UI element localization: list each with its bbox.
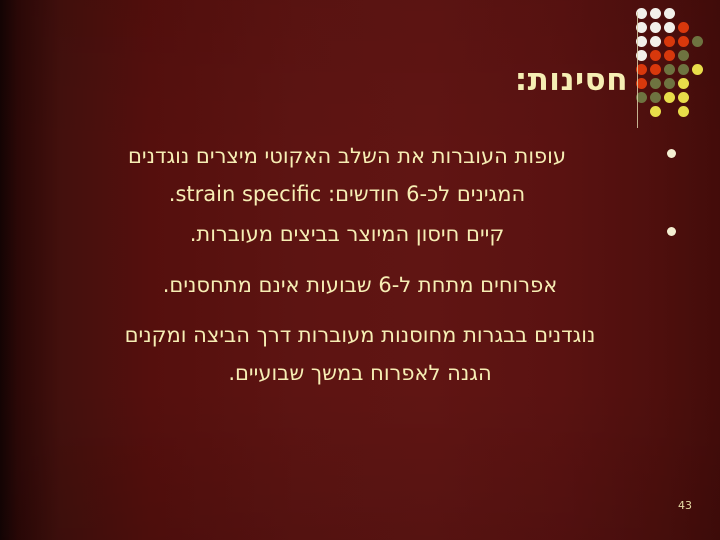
bullet-item: קיים חיסון המיוצר בביצים מעוברות.: [44, 215, 676, 253]
paragraph-line: קיים חיסון המיוצר בביצים מעוברות.: [44, 215, 650, 253]
matrix-dot: [664, 50, 675, 61]
matrix-dot: [678, 92, 689, 103]
bullet-icon: [667, 227, 676, 236]
matrix-dot: [650, 36, 661, 47]
body-paragraph: אפרוחים מתחת ל-6 שבועות אינם מתחסנים.: [44, 266, 676, 304]
bullet-icon: [667, 149, 676, 158]
matrix-dot: [650, 50, 661, 61]
matrix-dot: [664, 92, 675, 103]
matrix-dot: [650, 106, 661, 117]
matrix-dot: [678, 22, 689, 33]
paragraph-spacer: [44, 256, 676, 266]
dot-matrix-logo: [636, 8, 710, 120]
page-title: חסינות:: [515, 63, 628, 97]
matrix-dot: [692, 64, 703, 75]
matrix-dot: [678, 36, 689, 47]
matrix-dot: [650, 78, 661, 89]
matrix-dot: [678, 64, 689, 75]
matrix-dot: [664, 8, 675, 19]
page-number: 43: [678, 499, 692, 512]
presentation-slide: חסינות: עופות העוברות את השלב האקוטי מיצ…: [0, 0, 720, 540]
matrix-dot: [650, 64, 661, 75]
matrix-dot: [650, 92, 661, 103]
title-divider: [637, 12, 638, 128]
matrix-dot: [678, 78, 689, 89]
matrix-dot: [678, 50, 689, 61]
bullet-item: עופות העוברות את השלב האקוטי מיצרים נוגד…: [44, 137, 676, 213]
matrix-dot: [678, 106, 689, 117]
paragraph-spacer: [44, 306, 676, 316]
paragraph-line: המגינים לכ-6 חודשים: strain specific.: [44, 175, 650, 213]
paragraph-line: הגנה לאפרוח במשך שבועיים.: [44, 354, 676, 392]
matrix-dot: [650, 8, 661, 19]
paragraph-line: עופות העוברות את השלב האקוטי מיצרים נוגד…: [44, 137, 650, 175]
matrix-dot: [664, 64, 675, 75]
body-paragraph: נוגדנים בבגרות מחוסנות מעוברות דרך הביצה…: [44, 316, 676, 392]
matrix-dot: [692, 36, 703, 47]
matrix-dot: [664, 22, 675, 33]
paragraph-line: אפרוחים מתחת ל-6 שבועות אינם מתחסנים.: [44, 266, 676, 304]
paragraph-line: נוגדנים בבגרות מחוסנות מעוברות דרך הביצה…: [44, 316, 676, 354]
matrix-dot: [664, 78, 675, 89]
matrix-dot: [650, 22, 661, 33]
matrix-dot: [664, 36, 675, 47]
slide-body: עופות העוברות את השלב האקוטי מיצרים נוגד…: [44, 137, 676, 394]
